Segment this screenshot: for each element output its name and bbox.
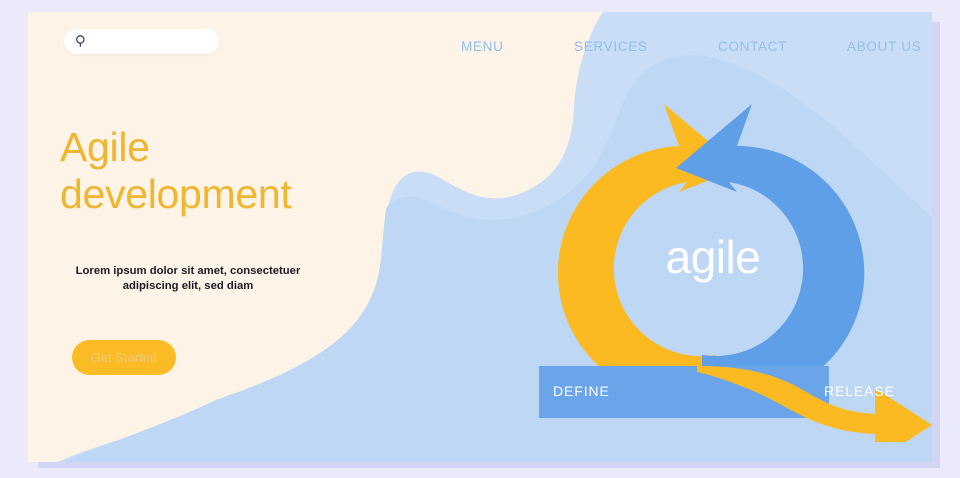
search-input[interactable] [94, 29, 214, 56]
nav-link-list: MENU SERVICES CONTACT ABOUT US [443, 12, 923, 74]
nav-link-about-us[interactable]: ABOUT US [847, 39, 921, 54]
agile-cycle-graphic [483, 82, 932, 442]
nav-link-contact[interactable]: CONTACT [718, 39, 787, 54]
hero-card: MENU SERVICES CONTACT ABOUT US Agile dev… [28, 12, 932, 462]
hero-content: Agile development Lorem ipsum dolor sit … [28, 12, 448, 462]
page-title-line-2: development [60, 171, 390, 218]
hero-subtitle-line-2: adipiscing elit, sed diam [48, 279, 328, 294]
search-box[interactable] [64, 29, 219, 54]
get-started-button[interactable]: Get Started [72, 340, 176, 375]
blue-cycle-arrow [676, 104, 864, 400]
agile-cycle-diagram: agile DEFINE RELEASE [483, 82, 932, 442]
search-icon [74, 34, 89, 49]
page-title-line-1: Agile [60, 124, 390, 171]
nav-link-services[interactable]: SERVICES [574, 39, 648, 54]
hero-subtitle: Lorem ipsum dolor sit amet, consectetuer… [48, 264, 328, 294]
top-navigation: MENU SERVICES CONTACT ABOUT US [28, 12, 932, 74]
page-title: Agile development [60, 124, 390, 218]
nav-link-menu[interactable]: MENU [461, 39, 504, 54]
hero-subtitle-line-1: Lorem ipsum dolor sit amet, consectetuer [48, 264, 328, 279]
landing-page-screenshot: MENU SERVICES CONTACT ABOUT US Agile dev… [0, 0, 960, 478]
